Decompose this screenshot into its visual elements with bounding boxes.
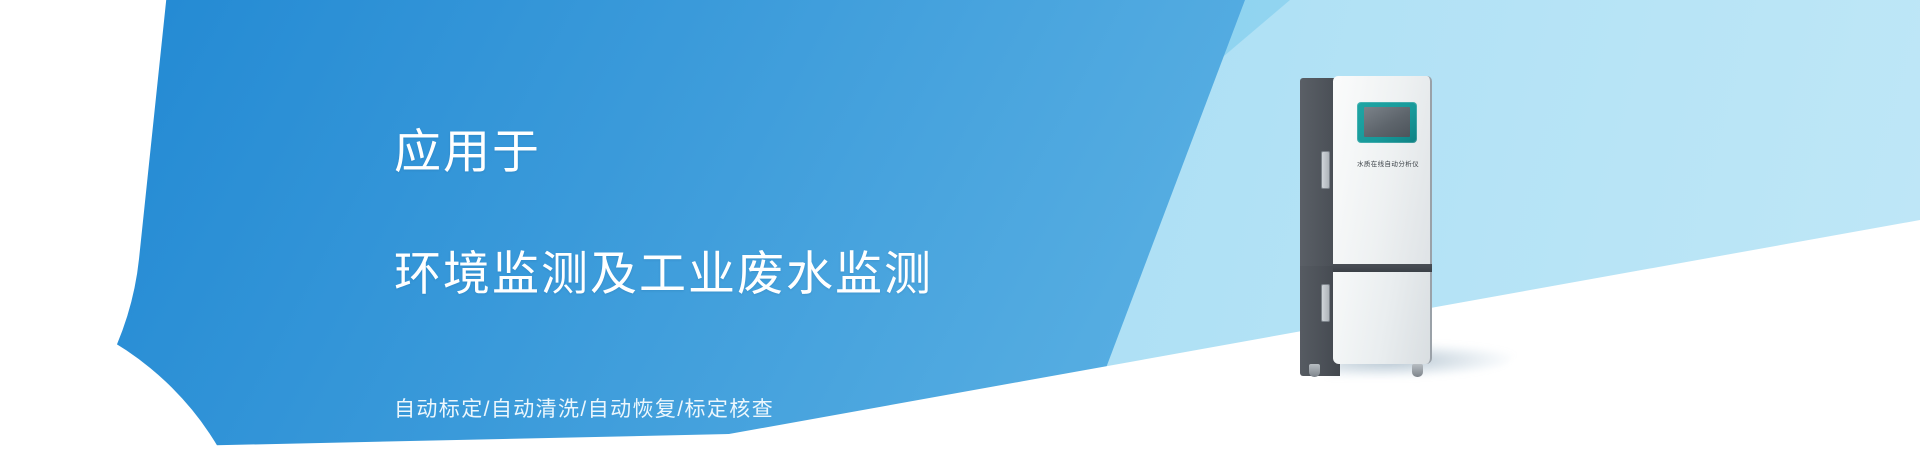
headline-line-2: 环境监测及工业废水监测 [394,243,1154,304]
device-screen-glass [1364,107,1410,137]
caster-wheel-icon-left [1309,364,1320,377]
door-handle-icon-lower [1321,284,1330,322]
device-label: 水质在线自动分析仪 [1346,162,1430,169]
banner-subheadline: 自动标定/自动清洗/自动恢复/标定核查 [394,393,1154,423]
banner-headline: 应用于 环境监测及工业废水监测 [394,60,1154,365]
headline-line-1: 应用于 [394,121,1154,182]
banner-content: 应用于 环境监测及工业废水监测 自动标定/自动清洗/自动恢复/标定核查 点击了解 [394,60,1154,450]
door-handle-icon-upper [1321,151,1330,189]
hero-banner: 应用于 环境监测及工业废水监测 自动标定/自动清洗/自动恢复/标定核查 点击了解… [0,0,1920,450]
caster-wheel-icon-right [1412,364,1423,377]
product-device-image: 水质在线自动分析仪 [1300,76,1432,376]
device-lower-cabinet [1333,272,1432,364]
